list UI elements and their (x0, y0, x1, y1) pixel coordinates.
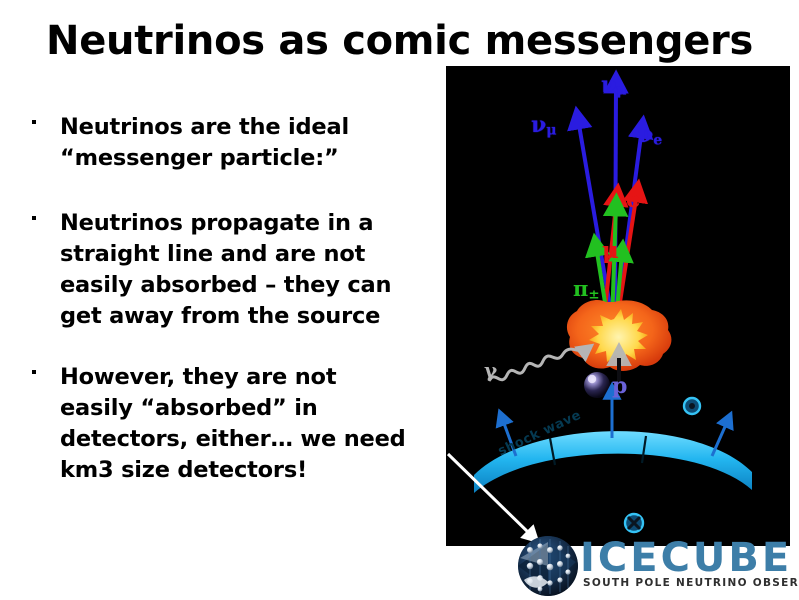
field-into-page-marker (624, 513, 644, 533)
bullet-marker-icon (32, 216, 36, 220)
bullet-marker-icon (32, 370, 36, 374)
list-item-label: However, they are not easily “absorbed” … (22, 362, 452, 486)
label-muon: μ (602, 239, 619, 262)
field-out-of-page-marker (683, 397, 701, 415)
icecube-tagline: SOUTH POLE NEUTRINO OBSERVATORY (583, 578, 799, 589)
label-electron: e (626, 188, 641, 211)
bullet-marker-icon (32, 120, 36, 124)
icecube-globe-icon (518, 536, 578, 596)
bullet-list: Neutrinos are the ideal “messenger parti… (22, 112, 452, 508)
list-item-label: Neutrinos are the ideal “messenger parti… (22, 112, 452, 174)
label-neutrino-mu-top: νμ (601, 74, 627, 98)
list-item: However, they are not easily “absorbed” … (22, 362, 452, 486)
label-neutrino-e: νe (638, 124, 662, 148)
icecube-wordmark: ICECUBE (580, 538, 792, 578)
diagram-image-panel: νμ νμ νe e μ π± γ p shock wave (446, 66, 790, 546)
diagram-graphics (446, 66, 790, 546)
label-proton: p (612, 375, 627, 397)
list-item-label: Neutrinos propagate in a straight line a… (22, 208, 452, 332)
list-item: Neutrinos propagate in a straight line a… (22, 208, 452, 332)
page-title: Neutrinos as comic messengers (0, 17, 799, 65)
proton-sphere (584, 372, 610, 398)
icecube-logo: ICECUBE SOUTH POLE NEUTRINO OBSERVATORY (518, 534, 796, 598)
list-item: Neutrinos are the ideal “messenger parti… (22, 112, 452, 174)
slide-canvas: Neutrinos as comic messengers Neutrinos … (0, 0, 799, 600)
label-pion: π± (573, 278, 600, 302)
label-photon: γ (484, 360, 497, 380)
label-neutrino-mu-left: νμ (531, 114, 557, 138)
